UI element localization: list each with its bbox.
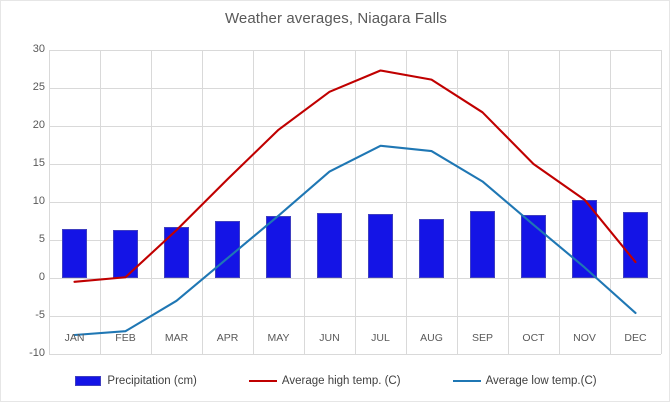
legend-label: Average low temp.(C): [486, 375, 597, 387]
x-tick-label: DEC: [610, 332, 661, 344]
y-tick-label: -5: [11, 310, 45, 321]
x-tick-label: MAR: [151, 332, 202, 344]
legend-item[interactable]: Precipitation (cm): [75, 375, 196, 387]
bar: [266, 216, 292, 278]
y-tick-label: 10: [11, 196, 45, 207]
chart-container: Weather averages, Niagara Falls 30252015…: [0, 0, 670, 402]
x-tick-label: NOV: [559, 332, 610, 344]
x-tick-label: FEB: [100, 332, 151, 344]
y-tick-label: -10: [11, 348, 45, 359]
vertical-gridline: [253, 50, 254, 354]
y-tick-label: 5: [11, 234, 45, 245]
bar: [113, 230, 139, 278]
legend-label: Average high temp. (C): [282, 375, 401, 387]
legend-item[interactable]: Average low temp.(C): [453, 375, 597, 387]
legend-line-swatch-icon: [453, 380, 481, 382]
bar: [470, 211, 496, 278]
vertical-gridline: [100, 50, 101, 354]
bar: [62, 229, 88, 278]
y-axis-tick-labels: 302520151050-5-10: [5, 50, 45, 354]
legend-item[interactable]: Average high temp. (C): [249, 375, 401, 387]
plot-area: JANFEBMARAPRMAYJUNJULAUGSEPOCTNOVDEC: [49, 50, 661, 354]
bar: [572, 200, 598, 278]
vertical-gridline: [304, 50, 305, 354]
legend-label: Precipitation (cm): [107, 375, 196, 387]
bar: [368, 214, 394, 278]
vertical-gridline: [49, 50, 50, 354]
vertical-gridline: [508, 50, 509, 354]
gridline: [49, 354, 661, 355]
bar: [419, 219, 445, 278]
y-tick-label: 15: [11, 158, 45, 169]
x-tick-label: JUL: [355, 332, 406, 344]
y-tick-label: 25: [11, 82, 45, 93]
chart-title: Weather averages, Niagara Falls: [1, 10, 670, 27]
x-tick-label: APR: [202, 332, 253, 344]
vertical-gridline: [559, 50, 560, 354]
x-tick-label: OCT: [508, 332, 559, 344]
legend-bar-swatch-icon: [75, 376, 101, 386]
chart-legend: Precipitation (cm)Average high temp. (C)…: [1, 369, 670, 393]
vertical-gridline: [610, 50, 611, 354]
bar: [521, 215, 547, 278]
vertical-gridline: [355, 50, 356, 354]
vertical-gridline: [202, 50, 203, 354]
x-tick-label: AUG: [406, 332, 457, 344]
bar: [164, 227, 190, 278]
bar: [317, 213, 343, 278]
x-tick-label: MAY: [253, 332, 304, 344]
vertical-gridline: [406, 50, 407, 354]
legend-line-swatch-icon: [249, 380, 277, 382]
vertical-gridline: [151, 50, 152, 354]
vertical-gridline: [661, 50, 662, 354]
y-tick-label: 20: [11, 120, 45, 131]
bar: [215, 221, 241, 278]
bar: [623, 212, 649, 278]
x-tick-label: SEP: [457, 332, 508, 344]
x-tick-label: JAN: [49, 332, 100, 344]
vertical-gridline: [457, 50, 458, 354]
y-tick-label: 30: [11, 44, 45, 55]
x-tick-label: JUN: [304, 332, 355, 344]
y-tick-label: 0: [11, 272, 45, 283]
